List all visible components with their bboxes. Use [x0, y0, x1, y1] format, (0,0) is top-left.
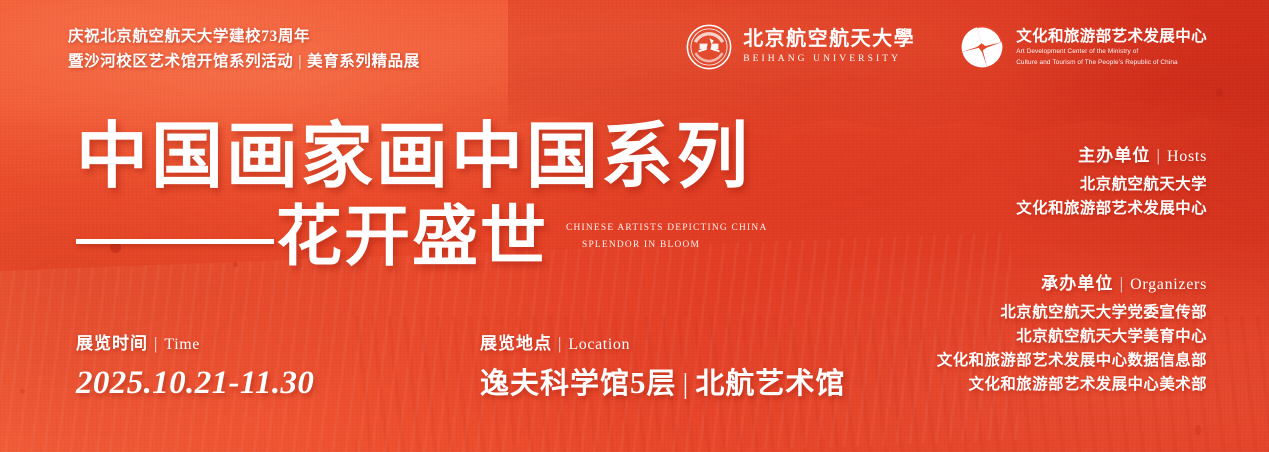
- location-heading: 展览地点|Location: [480, 332, 845, 357]
- list-item: 北京航空航天大学: [1016, 173, 1207, 197]
- exhibition-location-block: 展览地点|Location 逸夫科学馆5层|北航艺术馆: [480, 332, 845, 404]
- organizers-heading: 承办单位|Organizers: [937, 272, 1207, 297]
- hosts-heading-en: Hosts: [1167, 148, 1207, 165]
- beihang-logo-en: BEIHANG UNIVERSITY: [743, 51, 915, 66]
- title-em-dash: [76, 239, 274, 244]
- kicker-line-1: 庆祝北京航空航天大学建校73周年: [68, 24, 420, 49]
- beihang-logo-cn: 北京航空航天大學: [743, 28, 915, 51]
- title-subline-row: 花开盛世 CHINESE ARTISTS DEPICTING CHINA SPL…: [76, 202, 767, 274]
- organizers-heading-separator: |: [1114, 274, 1131, 293]
- time-heading-en: Time: [164, 336, 200, 353]
- time-heading-separator: |: [148, 334, 164, 353]
- title-english-line-1: CHINESE ARTISTS DEPICTING CHINA: [566, 223, 767, 233]
- exhibition-title-block: 中国画家画中国系列 花开盛世 CHINESE ARTISTS DEPICTING…: [76, 118, 767, 274]
- adc-logo-en-1: Art Development Center of the Ministry o…: [1016, 46, 1207, 56]
- exhibition-banner: 庆祝北京航空航天大学建校73周年 暨沙河校区艺术馆开馆系列活动|美育系列精品展 …: [0, 0, 1269, 452]
- adc-logo-cn: 文化和旅游部艺术发展中心: [1016, 27, 1207, 46]
- organizers-block: 承办单位|Organizers 北京航空航天大学党委宣传部 北京航空航天大学美育…: [937, 272, 1207, 397]
- kicker-line-2-series: 美育系列精品展: [307, 53, 420, 70]
- hosts-block: 主办单位|Hosts 北京航空航天大学 文化和旅游部艺术发展中心: [1016, 144, 1207, 221]
- hosts-heading-cn: 主办单位: [1078, 146, 1150, 165]
- background-speck: [1216, 88, 1223, 97]
- list-item: 北京航空航天大学美育中心: [937, 325, 1207, 349]
- list-item: 文化和旅游部艺术发展中心: [1016, 197, 1207, 221]
- venue-building: 逸夫科学馆: [480, 368, 630, 400]
- venue-separator: |: [677, 368, 696, 400]
- list-item: 文化和旅游部艺术发展中心数据信息部: [937, 349, 1207, 373]
- location-heading-separator: |: [552, 334, 568, 353]
- hosts-list: 北京航空航天大学 文化和旅游部艺术发展中心: [1016, 173, 1207, 221]
- venue-hall: 北航艺术馆: [695, 368, 845, 400]
- exhibition-dates: 2025.10.21-11.30: [76, 363, 314, 403]
- organizers-list: 北京航空航天大学党委宣传部 北京航空航天大学美育中心 文化和旅游部艺术发展中心数…: [937, 301, 1207, 397]
- venue-floor-number: 5: [630, 365, 647, 400]
- art-development-center-petal-icon: [959, 24, 1005, 70]
- location-heading-en: Location: [568, 336, 630, 353]
- art-development-center-logo: 文化和旅游部艺术发展中心 Art Development Center of t…: [959, 24, 1207, 70]
- beihang-logo-text: 北京航空航天大學 BEIHANG UNIVERSITY: [743, 28, 915, 66]
- organizers-heading-cn: 承办单位: [1041, 274, 1113, 293]
- beihang-university-logo: 北京航空航天大學 BEIHANG UNIVERSITY: [686, 24, 915, 70]
- anniversary-kicker: 庆祝北京航空航天大学建校73周年 暨沙河校区艺术馆开馆系列活动|美育系列精品展: [68, 24, 420, 74]
- organizers-heading-en: Organizers: [1130, 276, 1207, 293]
- title-english-line-2: SPLENDOR IN BLOOM: [566, 237, 767, 254]
- hosts-heading-separator: |: [1151, 146, 1168, 165]
- adc-logo-en-2: Culture and Tourism of The People's Repu…: [1016, 57, 1207, 67]
- exhibition-venue: 逸夫科学馆5层|北航艺术馆: [480, 363, 845, 404]
- location-heading-cn: 展览地点: [480, 334, 552, 353]
- adc-logo-text: 文化和旅游部艺术发展中心 Art Development Center of t…: [1016, 27, 1207, 67]
- list-item: 北京航空航天大学党委宣传部: [937, 301, 1207, 325]
- hosts-heading: 主办单位|Hosts: [1016, 144, 1207, 169]
- kicker-separator: |: [293, 53, 307, 70]
- title-subtitle: 花开盛世: [276, 202, 548, 274]
- time-heading-cn: 展览时间: [76, 334, 148, 353]
- beihang-seal-icon: [686, 24, 732, 70]
- venue-floor-unit: 层: [647, 368, 677, 400]
- page-title: 中国画家画中国系列: [76, 118, 767, 196]
- kicker-line-2: 暨沙河校区艺术馆开馆系列活动|美育系列精品展: [68, 49, 420, 74]
- title-english: CHINESE ARTISTS DEPICTING CHINA SPLENDOR…: [566, 220, 767, 254]
- exhibition-time-block: 展览时间|Time 2025.10.21-11.30: [76, 332, 314, 403]
- kicker-line-2-event: 暨沙河校区艺术馆开馆系列活动: [68, 53, 293, 70]
- time-heading: 展览时间|Time: [76, 332, 314, 357]
- logo-row: 北京航空航天大學 BEIHANG UNIVERSITY 文化和旅游部艺术发展中心…: [686, 24, 1207, 70]
- list-item: 文化和旅游部艺术发展中心美术部: [937, 373, 1207, 397]
